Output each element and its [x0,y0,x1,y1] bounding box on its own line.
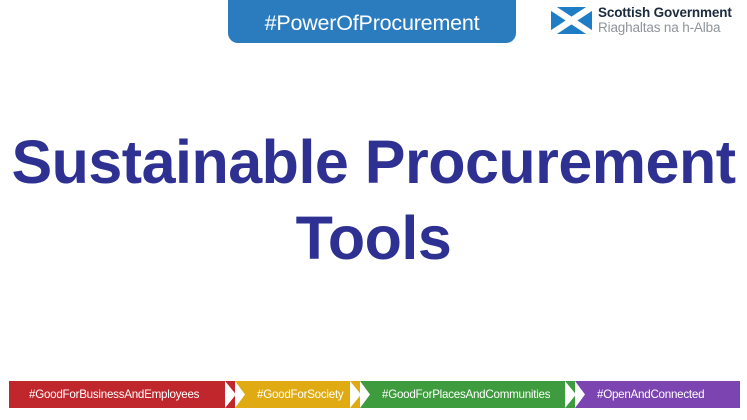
chevron-segment-label: #GoodForPlacesAndCommunities [382,388,550,401]
chevron-notch-icon [225,381,236,408]
chevron-notch-icon [350,381,361,408]
chevron-segment-good-for-business: #GoodForBusinessAndEmployees [9,381,235,408]
chevron-segment-open-and-connected: #OpenAndConnected [575,381,740,408]
slide-title-line-1: Sustainable Procurement [0,124,747,200]
chevron-notch-icon [565,381,576,408]
hashtag-banner: #PowerOfProcurement [228,0,516,43]
slide-title-block: Sustainable Procurement Tools [0,124,747,277]
scottish-government-logo: Scottish Government Riaghaltas na h-Alba [551,6,732,35]
outcomes-chevron-bar: #GoodForBusinessAndEmployees #GoodForSoc… [9,381,740,408]
logo-subtitle: Riaghaltas na h-Alba [598,21,732,36]
logo-wordmark: Scottish Government Riaghaltas na h-Alba [598,6,732,35]
slide-title-line-2: Tools [0,200,747,276]
chevron-segment-label: #GoodForSociety [257,388,343,401]
logo-title: Scottish Government [598,6,732,21]
chevron-segment-good-for-society: #GoodForSociety [235,381,360,408]
slide-header: #PowerOfProcurement Scottish Government … [0,0,747,52]
chevron-segment-good-for-places: #GoodForPlacesAndCommunities [360,381,575,408]
presentation-slide: #PowerOfProcurement Scottish Government … [0,0,747,420]
chevron-segment-label: #OpenAndConnected [597,388,704,401]
scottish-saltire-flag-icon [551,7,592,34]
chevron-segment-label: #GoodForBusinessAndEmployees [29,388,199,401]
hashtag-banner-label: #PowerOfProcurement [265,11,480,36]
